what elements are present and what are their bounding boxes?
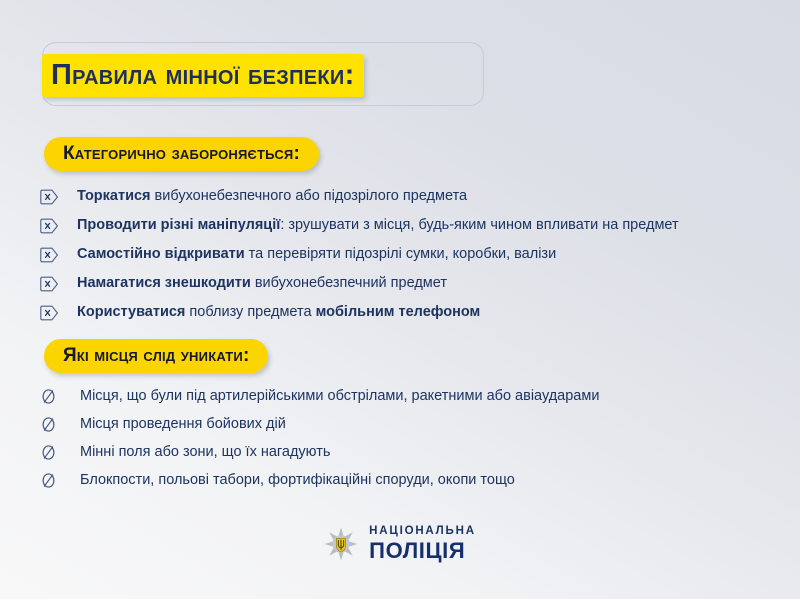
- list-item-text: Користуватися поблизу предмета мобільним…: [68, 305, 480, 320]
- list-item-text: Мінні поля або зони, що їх нагадують: [68, 445, 330, 460]
- title-highlight: Правила мінної безпеки:: [42, 54, 364, 97]
- section-heading-avoid-label: Які місця слід уникати:: [63, 345, 249, 367]
- prohibited-slash-circle-icon: [40, 444, 68, 461]
- list-item-bold-lead: Торкатися: [77, 188, 151, 204]
- list-item-text: Торкатися вибухонебезпечного або підозрі…: [68, 189, 467, 204]
- list-item-text: Блокпости, польові табори, фортифікаційн…: [68, 473, 515, 488]
- page-title: Правила мінної безпеки:: [51, 61, 355, 90]
- list-item-rest: вибухонебезпечний предмет: [251, 275, 447, 291]
- list-item-rest: вибухонебезпечного або підозрілого предм…: [151, 188, 468, 204]
- list-item: Місця проведення бойових дій: [40, 410, 599, 438]
- forbidden-list: Торкатися вибухонебезпечного або підозрі…: [40, 182, 679, 327]
- list-item: Самостійно відкривати та перевіряти підо…: [40, 240, 679, 269]
- list-item-text: Самостійно відкривати та перевіряти підо…: [68, 247, 556, 262]
- list-item-bold-lead: Самостійно відкривати: [77, 246, 245, 262]
- list-item-bold-lead: Проводити різні маніпуляції: [77, 217, 280, 233]
- logo-line-1: НАЦІОНАЛЬНА: [369, 526, 476, 538]
- list-item-rest: поблизу предмета: [185, 304, 315, 320]
- list-item-text: Місця, що були під артилерійськими обстр…: [68, 389, 599, 404]
- x-in-circle-icon: [40, 189, 68, 205]
- list-item: Місця, що були під артилерійськими обстр…: [40, 382, 599, 410]
- list-item: Проводити різні маніпуляції: зрушувати з…: [40, 211, 679, 240]
- prohibited-slash-circle-icon: [40, 388, 68, 405]
- x-in-circle-icon: [40, 247, 68, 263]
- logo-wordmark: НАЦІОНАЛЬНА ПОЛІЦІЯ: [369, 526, 476, 562]
- list-item: Торкатися вибухонебезпечного або підозрі…: [40, 182, 679, 211]
- list-item-text: Проводити різні маніпуляції: зрушувати з…: [68, 218, 679, 233]
- x-in-circle-icon: [40, 218, 68, 234]
- list-item-text: Місця проведення бойових дій: [68, 417, 286, 432]
- prohibited-slash-circle-icon: [40, 472, 68, 489]
- list-item: Користуватися поблизу предмета мобільним…: [40, 298, 679, 327]
- list-item: Мінні поля або зони, що їх нагадують: [40, 438, 599, 466]
- list-item-text: Намагатися знешкодити вибухонебезпечний …: [68, 276, 447, 291]
- x-in-circle-icon: [40, 305, 68, 321]
- section-heading-forbidden: Категорично забороняється:: [44, 137, 319, 171]
- list-item-bold-lead: Користуватися: [77, 304, 185, 320]
- section-heading-forbidden-label: Категорично забороняється:: [63, 143, 300, 165]
- x-in-circle-icon: [40, 276, 68, 292]
- avoid-list: Місця, що були під артилерійськими обстр…: [40, 382, 599, 494]
- footer-logo: НАЦІОНАЛЬНА ПОЛІЦІЯ: [0, 526, 800, 562]
- list-item-bold-tail: мобільним телефоном: [316, 304, 481, 320]
- section-heading-avoid: Які місця слід уникати:: [44, 339, 268, 373]
- list-item: Блокпости, польові табори, фортифікаційн…: [40, 466, 599, 494]
- logo-line-2: ПОЛІЦІЯ: [369, 540, 476, 562]
- title-card: Правила мінної безпеки:: [42, 42, 484, 106]
- police-star-badge-icon: [324, 527, 358, 561]
- prohibited-slash-circle-icon: [40, 416, 68, 433]
- list-item-rest: : зрушувати з місця, будь-яким чином впл…: [280, 217, 678, 233]
- list-item-bold-lead: Намагатися знешкодити: [77, 275, 251, 291]
- list-item: Намагатися знешкодити вибухонебезпечний …: [40, 269, 679, 298]
- list-item-rest: та перевіряти підозрілі сумки, коробки, …: [245, 246, 557, 262]
